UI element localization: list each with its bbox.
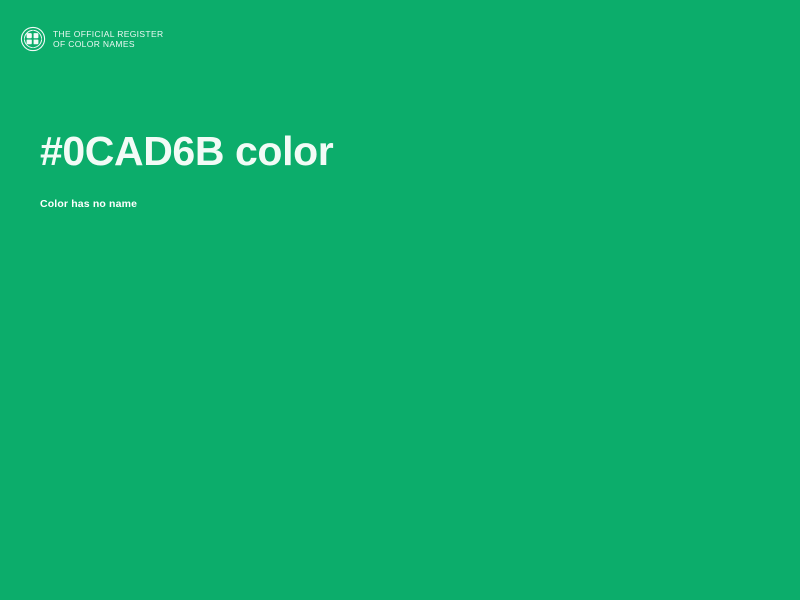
brand-wordmark: THE OFFICIAL REGISTER OF COLOR NAMES xyxy=(53,29,163,49)
main-content: #0CAD6B color Color has no name xyxy=(40,128,760,175)
brand-line-2: OF COLOR NAMES xyxy=(53,39,163,49)
color-info-page: THE OFFICIAL REGISTER OF COLOR NAMES #0C… xyxy=(0,0,800,600)
page-title: #0CAD6B color xyxy=(40,128,760,175)
brand-lockup[interactable]: THE OFFICIAL REGISTER OF COLOR NAMES xyxy=(20,26,163,52)
brand-line-1: THE OFFICIAL REGISTER xyxy=(53,29,163,39)
register-seal-icon xyxy=(20,26,46,52)
color-name-status: Color has no name xyxy=(40,198,137,210)
